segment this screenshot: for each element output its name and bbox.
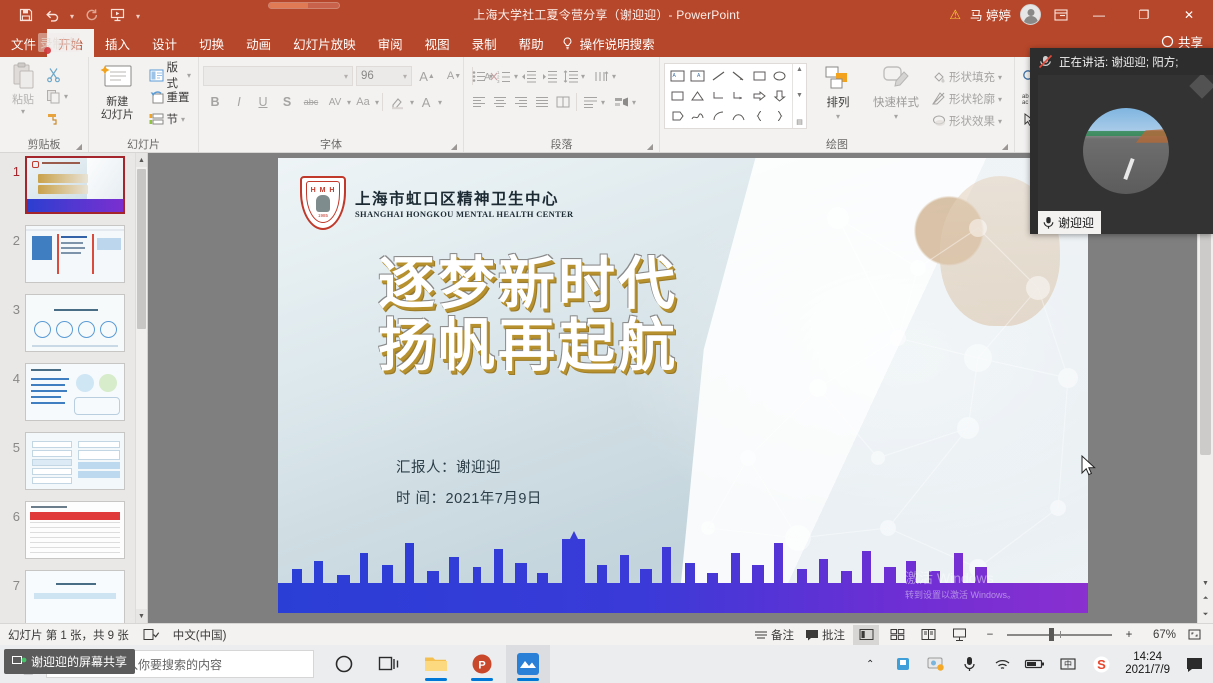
group-label-paragraph: 段落 ◢ — [468, 136, 655, 152]
restore-button[interactable]: ❐ — [1126, 0, 1162, 29]
clock-date: 2021/7/9 — [1125, 664, 1170, 677]
tab-record[interactable]: 录制 — [461, 29, 508, 57]
paste-button[interactable]: 粘贴 ▾ — [4, 62, 42, 116]
mic-icon — [1043, 216, 1054, 229]
file-explorer-icon[interactable] — [414, 645, 458, 683]
layout-dropdown-icon[interactable]: ▾ — [187, 71, 191, 80]
convert-smartart-dropdown-icon[interactable]: ▾ — [632, 98, 636, 107]
group-paragraph: ▾ 123 ▾ ▾ ▾ — [463, 57, 659, 152]
font-dialog-launcher[interactable]: ◢ — [451, 142, 457, 151]
character-spacing-button[interactable]: AV — [323, 91, 347, 113]
show-hidden-icons[interactable]: ⌃ — [857, 645, 883, 683]
align-text-dropdown-icon[interactable]: ▾ — [601, 98, 605, 107]
share-icon — [1161, 35, 1174, 48]
tab-slideshow[interactable]: 幻灯片放映 — [282, 29, 367, 57]
decrease-indent-icon[interactable] — [518, 65, 539, 87]
slide-presenter: 汇报人：谢迎迎 — [396, 453, 542, 484]
shape-right-arrow-icon[interactable] — [749, 86, 770, 106]
tab-review[interactable]: 审阅 — [367, 29, 414, 57]
text-shadow-button[interactable]: S — [275, 91, 299, 113]
thumbnail-number: 2 — [6, 225, 20, 248]
increase-indent-icon[interactable] — [539, 65, 560, 87]
slide-title-line-2: 扬帆再起航 — [378, 315, 808, 377]
group-clipboard: 粘贴 ▾ ▾ — [0, 57, 88, 152]
group-label-font: 字体 ◢ — [203, 136, 459, 152]
status-bar: 幻灯片 第 1 张，共 9 张 中文(中国) 备注 批注 — [0, 623, 1213, 645]
quick-styles-dropdown-icon[interactable]: ▾ — [894, 110, 898, 123]
shape-arc-icon[interactable] — [729, 106, 750, 126]
text-direction-icon[interactable] — [591, 65, 612, 87]
shape-effects-label: 形状效果 — [949, 113, 995, 129]
clipboard-dialog-launcher[interactable]: ◢ — [76, 142, 82, 151]
shape-line-icon[interactable] — [708, 66, 729, 86]
tab-view[interactable]: 视图 — [414, 29, 461, 57]
mouse-cursor — [1081, 455, 1096, 477]
thumbnail-preview[interactable] — [25, 501, 125, 559]
shape-effects-icon — [932, 114, 946, 128]
screen-share-tooltip-label: 谢迎迎的屏幕共享 — [31, 653, 127, 670]
participant-name-badge: 谢迎迎 — [1038, 211, 1101, 234]
slide-date: 时 间：2021年7月9日 — [396, 484, 542, 515]
thumbnail-number: 3 — [6, 294, 20, 317]
hospital-name-cn: 上海市虹口区精神卫生中心 — [355, 187, 573, 209]
cortana-icon[interactable] — [322, 645, 366, 683]
shape-arrow-icon[interactable] — [729, 66, 750, 86]
thumbnail-slide-7[interactable]: 7 — [0, 570, 135, 623]
notifications-icon[interactable] — [1181, 645, 1207, 683]
shape-elbow-connector-icon[interactable] — [708, 86, 729, 106]
thumbnail-number: 7 — [6, 570, 20, 593]
thumbnail-number: 4 — [6, 363, 20, 386]
thumbnail-scrollbar[interactable]: ▲ ▼ — [135, 153, 147, 623]
thumbnail-number: 6 — [6, 501, 20, 524]
hospital-crest-icon: H M H 1985 — [300, 176, 346, 230]
usb-device-icon[interactable] — [890, 645, 916, 683]
video-panel-resize-handle[interactable] — [1189, 75, 1213, 99]
undo-icon[interactable] — [40, 4, 64, 26]
tab-help[interactable]: 帮助 — [508, 29, 555, 57]
windows-activation-watermark: 激活 Windows 转到设置以激活 Windows。 — [905, 568, 1016, 601]
font-color-dropdown-icon[interactable]: ▾ — [438, 98, 442, 107]
shape-outline-button[interactable]: 形状轮廓 ▾ — [929, 88, 1005, 110]
notes-button[interactable]: 备注 — [751, 625, 797, 645]
shape-effects-button[interactable]: 形状效果 ▾ — [929, 110, 1005, 132]
slide-scroll-down-icon[interactable]: ▼ — [1198, 575, 1213, 591]
group-label-clipboard: 剪贴板 ◢ — [4, 136, 84, 152]
font-size-dropdown-icon[interactable]: ▾ — [403, 72, 407, 81]
shape-elbow-arrow-icon[interactable] — [729, 86, 750, 106]
account-name[interactable]: 马 婷婷 — [970, 5, 1011, 24]
language-label[interactable]: 中文(中国) — [173, 627, 227, 643]
shape-curve-icon[interactable] — [708, 106, 729, 126]
shape-fill-button[interactable]: 形状填充 ▾ — [929, 66, 1005, 88]
fit-to-window-button[interactable] — [1181, 625, 1207, 645]
comment-icon — [805, 629, 819, 641]
minimize-button[interactable]: — — [1081, 0, 1117, 29]
strikethrough-button[interactable]: abc — [299, 91, 323, 113]
drawing-dialog-launcher[interactable]: ◢ — [1002, 142, 1008, 151]
normal-view-button[interactable] — [853, 625, 879, 645]
align-right-icon[interactable] — [510, 91, 531, 113]
convert-smartart-icon[interactable] — [611, 91, 632, 113]
tab-insert[interactable]: 插入 — [94, 29, 141, 57]
hospital-name-en: SHANGHAI HONGKOU MENTAL HEALTH CENTER — [355, 209, 573, 219]
title-bar-right: ⚠ 马 婷婷 — ❐ ✕ — [949, 0, 1213, 29]
text-direction-dropdown-icon[interactable]: ▾ — [612, 72, 616, 81]
shape-triangle-icon[interactable] — [688, 86, 709, 106]
undo-dropdown-icon[interactable]: ▾ — [66, 4, 78, 26]
paragraph-dialog-launcher[interactable]: ◢ — [647, 142, 653, 151]
zoom-slider-track[interactable] — [1007, 625, 1112, 645]
new-slide-label-2: 幻灯片 — [101, 109, 134, 122]
font-size-input[interactable]: 96 ▾ — [356, 66, 412, 86]
tell-me-label: 操作说明搜索 — [580, 34, 655, 53]
thumbnail-slide-2[interactable]: 2 — [0, 225, 135, 283]
slide-thumbnail-pane[interactable]: 1 2 — [0, 153, 148, 623]
layout-button[interactable]: 版式 ▾ — [146, 64, 195, 86]
arrange-label: 排列 — [827, 97, 850, 110]
section-label: 节 — [167, 111, 179, 127]
copy-dropdown-icon[interactable]: ▾ — [64, 92, 68, 101]
crest-year: 1985 — [318, 213, 328, 218]
svg-text:3: 3 — [497, 79, 500, 84]
thumbnail-slide-3[interactable]: 3 — [0, 294, 135, 352]
section-button[interactable]: 节 ▾ — [146, 108, 195, 130]
bold-button[interactable]: B — [203, 91, 227, 113]
network-icon[interactable] — [989, 645, 1015, 683]
shape-textbox2-icon[interactable]: A — [688, 66, 709, 86]
group-drawing: A A — [659, 57, 1014, 152]
quick-access-toolbar: ▾ ▾ — [0, 4, 144, 26]
align-center-icon[interactable] — [489, 91, 510, 113]
reset-button[interactable]: 重置 — [146, 86, 195, 108]
arrange-dropdown-icon[interactable]: ▾ — [836, 110, 840, 123]
thumbnail-preview[interactable] — [25, 432, 125, 490]
slide-sorter-view-button[interactable] — [884, 625, 910, 645]
slide-title-line-1: 逐梦新时代 — [378, 253, 808, 315]
watermark-line-1: 激活 Windows — [905, 568, 1016, 588]
slideshow-view-button[interactable] — [946, 625, 972, 645]
avatar[interactable] — [1020, 4, 1041, 25]
thumbnail-number: 5 — [6, 432, 20, 455]
justify-icon[interactable] — [531, 91, 552, 113]
arrange-icon — [823, 65, 853, 95]
thumbnail-preview[interactable] — [25, 225, 125, 283]
group-font: ▾ 96 ▾ A▲ A▼ A B I U — [198, 57, 463, 152]
meeting-app-icon[interactable] — [506, 645, 550, 683]
section-dropdown-icon[interactable]: ▾ — [181, 115, 185, 124]
tab-transitions[interactable]: 切换 — [188, 29, 235, 57]
line-spacing-dropdown-icon[interactable]: ▾ — [581, 72, 585, 81]
participant-name-label: 谢迎迎 — [1058, 214, 1094, 231]
thumbnail-preview[interactable] — [25, 363, 125, 421]
save-icon[interactable] — [14, 4, 38, 26]
paste-label: 粘贴 — [12, 91, 34, 107]
comments-label: 批注 — [822, 627, 845, 643]
shapes-scroll-up-icon[interactable]: ▲ — [796, 66, 803, 73]
accessibility-icon[interactable] — [138, 625, 164, 645]
close-button[interactable]: ✕ — [1171, 0, 1207, 29]
taskbar-clock[interactable]: 14:24 2021/7/9 — [1121, 651, 1174, 677]
shape-fill-icon — [932, 70, 946, 84]
slide-title-textbox[interactable]: 逐梦新时代 扬帆再起航 — [378, 253, 808, 377]
tab-animations[interactable]: 动画 — [235, 29, 282, 57]
layout-icon — [149, 68, 164, 83]
powerpoint-window: ▾ ▾ 上海大学社工夏令营分享（谢迎迎）- PowerPoint ⚠ 马 婷婷 … — [0, 0, 1213, 683]
copy-icon[interactable] — [42, 85, 64, 107]
thumbnail-number: 1 — [6, 156, 20, 179]
thumbnail-preview[interactable] — [25, 570, 125, 623]
shape-outline-dropdown-icon[interactable]: ▾ — [998, 95, 1002, 104]
sogou-ime-icon[interactable]: S — [1088, 645, 1114, 683]
ribbon-display-options-icon[interactable] — [1050, 5, 1072, 25]
shape-pentagon-icon[interactable] — [667, 106, 688, 126]
svg-text:P: P — [478, 660, 485, 672]
arrange-button[interactable]: 排列 ▾ — [813, 63, 863, 123]
thumbnail-scroll-up-icon[interactable]: ▲ — [136, 153, 147, 167]
shape-right-brace-icon[interactable] — [770, 106, 791, 126]
next-slide-icon[interactable]: ⏷ — [1198, 607, 1213, 623]
quick-styles-button[interactable]: 快速样式 ▾ — [869, 63, 923, 123]
screen-share-tray-icon[interactable] — [923, 645, 949, 683]
thumbnail-slide-6[interactable]: 6 — [0, 501, 135, 559]
tell-me-search[interactable]: 操作说明搜索 — [555, 29, 666, 57]
clock-time: 14:24 — [1125, 651, 1170, 664]
change-case-button[interactable]: Aa — [351, 91, 375, 113]
lightbulb-icon — [561, 36, 575, 50]
battery-icon[interactable] — [1022, 645, 1048, 683]
shape-oval-icon[interactable] — [770, 66, 791, 86]
shape-textbox-icon[interactable]: A — [667, 66, 688, 86]
slide-count-label: 幻灯片 第 1 张，共 9 张 — [8, 627, 129, 643]
shapes-gallery-scrollbar[interactable]: ▲ ▼ ▤ — [792, 64, 806, 128]
align-text-icon[interactable] — [580, 91, 601, 113]
thumbnail-scroll-thumb[interactable] — [137, 169, 146, 329]
screen-share-icon — [12, 656, 26, 668]
current-slide[interactable]: H M H 1985 上海市虹口区精神卫生中心 SHANGHAI HONGKOU… — [278, 158, 1088, 613]
svg-text:中: 中 — [1064, 659, 1072, 669]
title-bar: ▾ ▾ 上海大学社工夏令营分享（谢迎迎）- PowerPoint ⚠ 马 婷婷 … — [0, 0, 1213, 29]
quick-styles-label: 快速样式 — [873, 97, 919, 110]
thumbnail-slide-1[interactable]: 1 — [0, 156, 135, 214]
zoom-control[interactable]: − + 67% — [977, 625, 1176, 645]
align-left-icon[interactable] — [468, 91, 489, 113]
group-label-drawing: 绘图 ◢ — [664, 136, 1010, 152]
autosave-progress — [268, 2, 340, 9]
customize-qat-icon[interactable]: ▾ — [132, 4, 144, 26]
powerpoint-icon[interactable]: P — [460, 645, 504, 683]
numbering-icon[interactable]: 123 — [493, 65, 514, 87]
thumbnail-scroll-down-icon[interactable]: ▼ — [136, 609, 147, 623]
zoom-level-label[interactable]: 67% — [1146, 629, 1176, 641]
system-tray: ⌃ 中 S 14:24 2021/7 — [857, 645, 1213, 683]
line-spacing-icon[interactable] — [560, 65, 581, 87]
zoom-slider-handle[interactable] — [1049, 628, 1054, 641]
font-name-dropdown-icon[interactable]: ▾ — [344, 72, 348, 81]
new-slide-label-1: 新建 — [106, 96, 128, 109]
task-view-icon[interactable] — [368, 645, 412, 683]
notes-label: 备注 — [771, 627, 794, 643]
font-size-value: 96 — [361, 70, 374, 82]
bullets-icon[interactable] — [468, 65, 489, 87]
recording-dot-icon — [44, 47, 51, 54]
participant-avatar — [1083, 108, 1169, 194]
font-color-icon[interactable]: A — [414, 91, 438, 113]
grow-font-icon[interactable]: A▲ — [415, 65, 439, 87]
shape-fill-dropdown-icon[interactable]: ▾ — [998, 73, 1002, 82]
underline-button[interactable]: U — [251, 91, 275, 113]
zoom-out-button[interactable]: − — [977, 625, 1003, 645]
reset-icon — [149, 90, 164, 105]
redo-icon[interactable] — [80, 4, 104, 26]
reading-view-button[interactable] — [915, 625, 941, 645]
shapes-gallery[interactable]: A A — [664, 63, 807, 129]
comments-button[interactable]: 批注 — [802, 625, 848, 645]
ime-icon[interactable]: 中 — [1055, 645, 1081, 683]
notes-icon — [754, 629, 768, 641]
cut-icon[interactable] — [42, 63, 64, 85]
shape-square-icon[interactable] — [667, 86, 688, 106]
video-tile[interactable]: 谢迎迎 — [1038, 75, 1213, 234]
speaking-status-bar: 正在讲话: 谢迎迎; 阳方; — [1030, 48, 1213, 75]
slide-meta-textbox[interactable]: 汇报人：谢迎迎 时 间：2021年7月9日 — [396, 453, 542, 515]
paste-dropdown-icon[interactable]: ▾ — [21, 107, 25, 116]
shapes-scroll-down-icon[interactable]: ▼ — [796, 92, 803, 99]
microphone-icon[interactable] — [956, 645, 982, 683]
font-name-input[interactable]: ▾ — [203, 66, 353, 86]
windows-taskbar: 在这里输入你要搜索的内容 P 谢迎迎的屏幕共享 ⌃ — [0, 645, 1213, 683]
group-slides: 新建 幻灯片 版式 ▾ 重置 节 ▾ — [88, 57, 198, 152]
thumbnail-preview[interactable] — [25, 156, 125, 214]
thumbnail-slide-4[interactable]: 4 — [0, 363, 135, 421]
shape-left-brace-icon[interactable] — [749, 106, 770, 126]
mic-muted-icon[interactable] — [1038, 54, 1053, 69]
screen-share-tooltip: 谢迎迎的屏幕共享 — [4, 649, 135, 674]
tab-design[interactable]: 设计 — [141, 29, 188, 57]
change-case-dropdown-icon[interactable]: ▾ — [375, 98, 379, 107]
svg-text:S: S — [1097, 657, 1106, 672]
crest-initials: H M H — [311, 187, 336, 194]
columns-icon[interactable] — [552, 91, 573, 113]
shape-fill-label: 形状填充 — [949, 69, 995, 85]
thumbnail-preview[interactable] — [25, 294, 125, 352]
speaking-status-label: 正在讲话: 谢迎迎; 阳方; — [1059, 54, 1178, 70]
slide-logo: H M H 1985 上海市虹口区精神卫生中心 SHANGHAI HONGKOU… — [300, 176, 573, 230]
svg-text:A: A — [672, 73, 676, 79]
watermark-line-2: 转到设置以激活 Windows。 — [905, 588, 1016, 601]
shape-outline-icon — [932, 92, 946, 106]
quick-styles-icon — [880, 65, 912, 95]
paste-icon — [10, 62, 36, 90]
italic-button[interactable]: I — [227, 91, 251, 113]
format-painter-icon[interactable] — [42, 107, 64, 129]
thumbnail-slide-5[interactable]: 5 — [0, 432, 135, 490]
previous-slide-icon[interactable]: ⏶ — [1198, 591, 1213, 607]
reset-label: 重置 — [167, 89, 190, 105]
svg-text:ac: ac — [1022, 100, 1028, 106]
svg-text:A: A — [697, 73, 701, 79]
new-slide-icon — [100, 64, 134, 94]
zoom-in-button[interactable]: + — [1116, 625, 1142, 645]
shape-effects-dropdown-icon[interactable]: ▾ — [998, 117, 1002, 126]
group-label-slides: 幻灯片 — [93, 136, 194, 152]
warning-icon[interactable]: ⚠ — [949, 8, 961, 21]
shapes-more-icon[interactable]: ▤ — [796, 118, 803, 126]
start-slideshow-icon[interactable] — [106, 4, 130, 26]
shape-down-arrow-icon[interactable] — [770, 86, 791, 106]
section-icon — [149, 112, 164, 127]
shape-freeform-icon[interactable] — [688, 106, 709, 126]
text-highlight-icon[interactable] — [386, 91, 410, 113]
new-slide-button[interactable]: 新建 幻灯片 — [93, 62, 142, 122]
shape-rectangle-icon[interactable] — [749, 66, 770, 86]
meeting-video-panel[interactable]: 正在讲话: 谢迎迎; 阳方; 谢迎迎 — [1030, 48, 1213, 234]
shape-outline-label: 形状轮廓 — [949, 91, 995, 107]
